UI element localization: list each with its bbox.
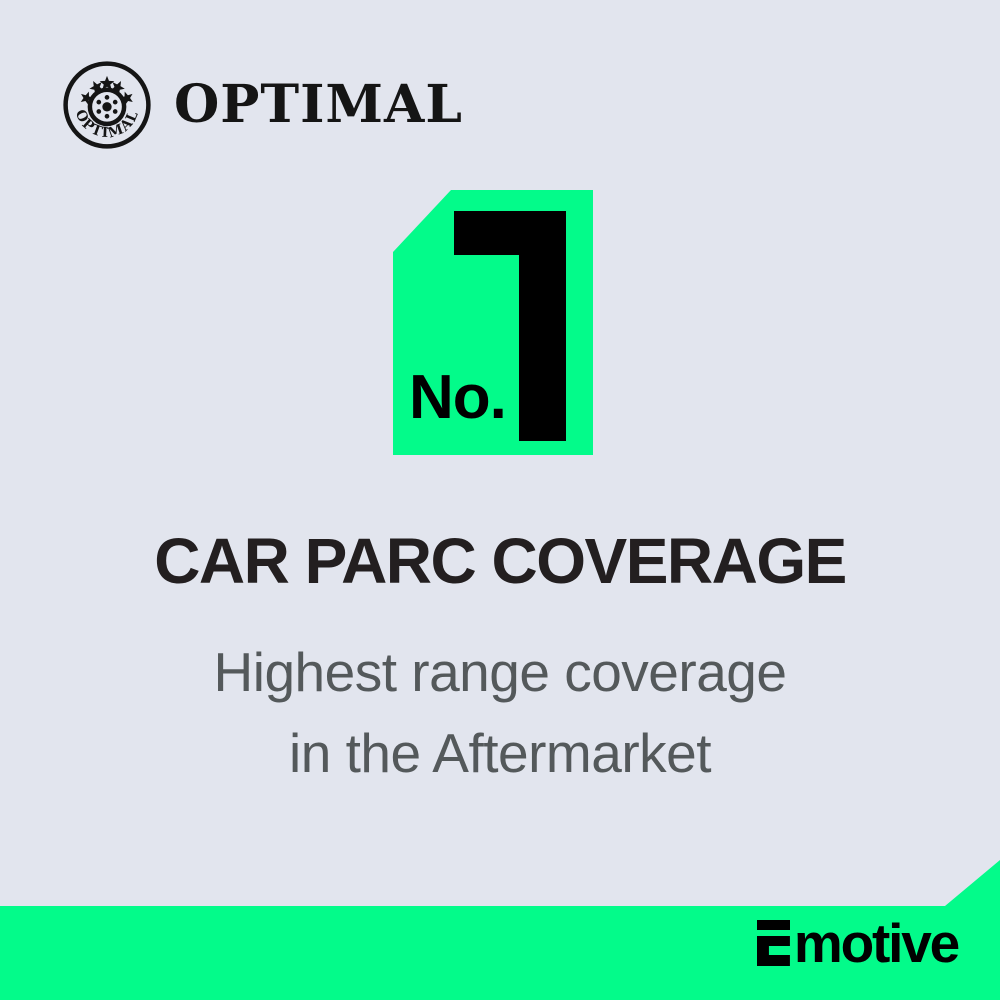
brand-lockup: OPTIMAL OPTIMAL (62, 60, 463, 150)
emotive-logo: motive (757, 920, 958, 966)
subtitle-line-1: Highest range coverage (0, 632, 1000, 713)
footer-band: motive (0, 860, 1000, 1000)
page-subtitle: Highest range coverage in the Aftermarke… (0, 632, 1000, 795)
page-title: CAR PARC COVERAGE (0, 529, 1000, 594)
emotive-e-top-bar (757, 920, 790, 930)
numeral-stem-shape (519, 211, 566, 441)
promo-poster: OPTIMAL OPTIMAL No. CAR PARC COVERAGE Hi… (0, 0, 1000, 1000)
rank-numeral (454, 211, 566, 441)
brand-wordmark: OPTIMAL (174, 79, 463, 131)
emotive-e-body (757, 936, 790, 966)
subtitle-line-2: in the Aftermarket (0, 713, 1000, 794)
optimal-wheel-seal-icon: OPTIMAL (62, 60, 152, 150)
emotive-logo-text: motive (794, 920, 958, 966)
rank-badge: No. (393, 190, 593, 455)
emotive-e-icon (757, 920, 790, 966)
